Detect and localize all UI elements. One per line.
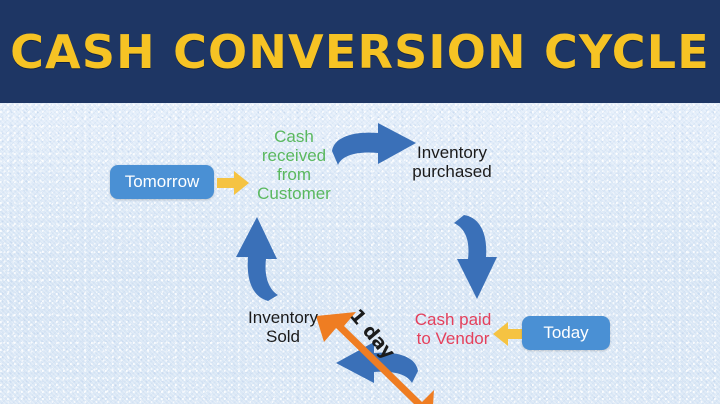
stage-cash-received-from-customer: Cash received from Customer	[246, 127, 342, 203]
pill-tomorrow[interactable]: Tomorrow	[110, 165, 214, 199]
pill-today-label: Today	[543, 323, 588, 343]
page-title: CASH CONVERSION CYCLE	[10, 25, 710, 79]
cycle-arrow-right-down-icon	[452, 213, 512, 305]
screenshot-root: CASH CONVERSION CYCLE C	[0, 0, 720, 404]
stage-inventory-purchased: Inventory purchased	[392, 143, 512, 181]
stage-inventory-sold: Inventory Sold	[228, 308, 338, 346]
diagram-canvas: Cash received from Customer Inventory pu…	[0, 103, 720, 404]
tomorrow-pointer-arrow-icon	[216, 169, 250, 197]
pill-today[interactable]: Today	[522, 316, 610, 350]
stage-cash-paid-to-vendor: Cash paid to Vendor	[398, 310, 508, 348]
cycle-arrow-left-up-icon	[228, 213, 286, 305]
header-banner: CASH CONVERSION CYCLE	[0, 0, 720, 103]
pill-tomorrow-label: Tomorrow	[125, 172, 200, 192]
